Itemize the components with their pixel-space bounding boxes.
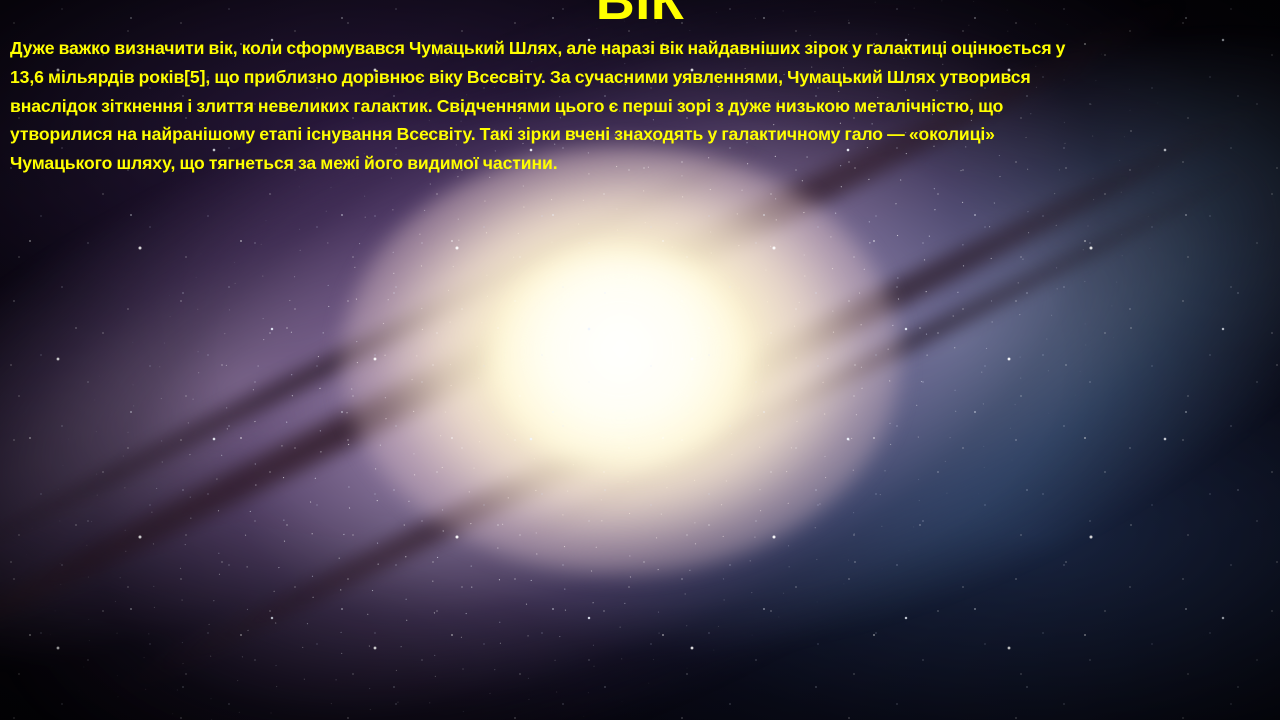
body-line: утворилися на найранішому етапі існуванн…: [10, 120, 1272, 149]
slide-body-text: Дуже важко визначити вік, коли сформував…: [10, 34, 1272, 178]
body-line: 13,6 мільярдів років[5], що приблизно до…: [10, 63, 1272, 92]
slide-title: ВІК: [0, 0, 1280, 28]
body-line: Дуже важко визначити вік, коли сформував…: [10, 34, 1272, 63]
body-line: внаслідок зіткнення і злиття невеликих г…: [10, 92, 1272, 121]
presentation-slide: ВІК Дуже важко визначити вік, коли сформ…: [0, 0, 1280, 720]
body-line: Чумацького шляху, що тягнеться за межі й…: [10, 149, 1272, 178]
